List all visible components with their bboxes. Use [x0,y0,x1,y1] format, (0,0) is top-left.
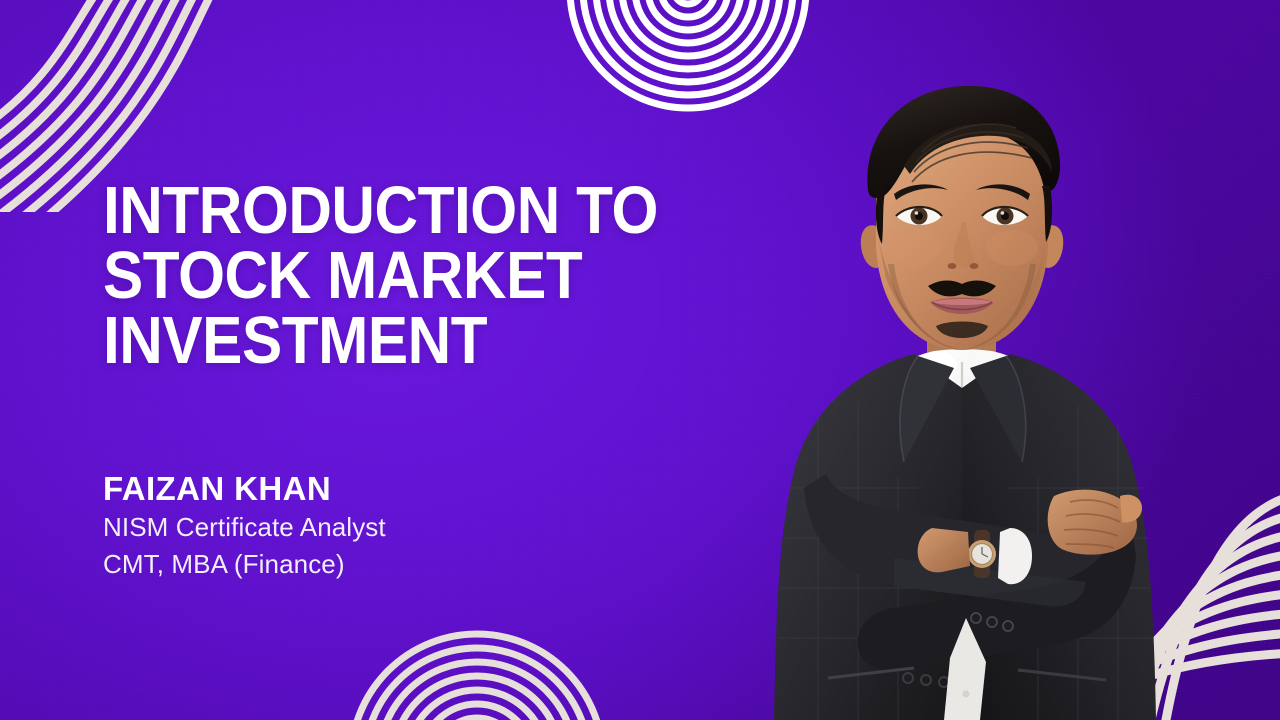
presenter-credential-primary: NISM Certificate Analyst [103,509,386,546]
concentric-arcs-bottom-center-icon [322,592,632,720]
presenter-photo [718,58,1218,720]
title-slide: INTRODUCTION TO STOCK MARKET INVESTMENT … [0,0,1280,720]
presenter-name: FAIZAN KHAN [103,470,386,509]
page-title: INTRODUCTION TO STOCK MARKET INVESTMENT [103,178,787,373]
presenter-credential-secondary: CMT, MBA (Finance) [103,546,386,583]
course-title-block: INTRODUCTION TO STOCK MARKET INVESTMENT [103,178,863,373]
presenter-info-block: FAIZAN KHAN NISM Certificate Analyst CMT… [103,470,386,583]
